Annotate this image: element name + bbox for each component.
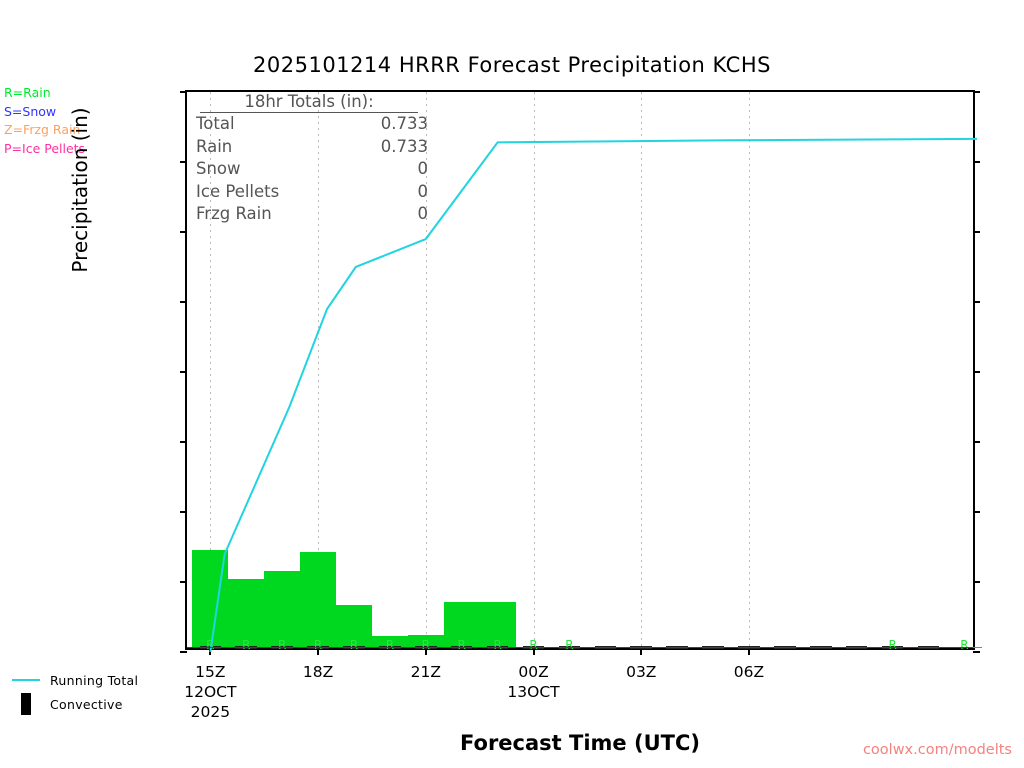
y-tick-left bbox=[180, 441, 187, 443]
legend-item-label: Running Total bbox=[50, 673, 138, 688]
x-tick-label-line: 15Z bbox=[155, 662, 265, 682]
y-tick-left bbox=[180, 511, 187, 513]
totals-row-value: 0.733 bbox=[381, 136, 428, 159]
totals-row-label: Snow bbox=[196, 158, 241, 181]
totals-row-label: Frzg Rain bbox=[196, 203, 272, 226]
x-tick-label-line: 03Z bbox=[586, 662, 696, 682]
page-title: 2025101214 HRRR Forecast Precipitation K… bbox=[0, 53, 1024, 77]
x-tick-label-line: 12OCT bbox=[155, 682, 265, 702]
series-legend: Running TotalConvective bbox=[12, 668, 138, 716]
watermark-credit: coolwx.com/modelts bbox=[0, 742, 1012, 758]
y-tick-left bbox=[180, 651, 187, 653]
totals-box-rows: Total0.733Rain0.733Snow0Ice Pellets0Frzg… bbox=[196, 113, 441, 226]
totals-row-value: 0 bbox=[418, 181, 429, 204]
totals-row-label: Ice Pellets bbox=[196, 181, 279, 204]
y-tick-left bbox=[180, 161, 187, 163]
totals-row-value: 0 bbox=[418, 203, 429, 226]
y-tick-left bbox=[180, 231, 187, 233]
y-tick-left bbox=[180, 301, 187, 303]
legend-item-running-total[interactable]: Running Total bbox=[12, 668, 138, 692]
zero-baseline bbox=[187, 647, 973, 648]
totals-row: Snow0 bbox=[196, 158, 428, 181]
x-tick-label: 00Z13OCT bbox=[479, 662, 589, 702]
totals-row: Rain0.733 bbox=[196, 136, 428, 159]
y-tick-left bbox=[180, 581, 187, 583]
totals-row: Frzg Rain0 bbox=[196, 203, 428, 226]
x-tick-label: 03Z bbox=[586, 662, 696, 682]
totals-row-value: 0 bbox=[418, 158, 429, 181]
x-tick-label-line: 06Z bbox=[694, 662, 804, 682]
x-tick-label: 21Z bbox=[371, 662, 481, 682]
totals-box-header: 18hr Totals (in): bbox=[200, 92, 418, 113]
x-tick-label: 18Z bbox=[263, 662, 373, 682]
x-tick-label-line: 2025 bbox=[155, 702, 265, 722]
x-tick-label: 15Z12OCT2025 bbox=[155, 662, 265, 722]
x-tick-label-line: 21Z bbox=[371, 662, 481, 682]
x-tick-label-line: 13OCT bbox=[479, 682, 589, 702]
totals-row: Ice Pellets0 bbox=[196, 181, 428, 204]
x-tick-label: 06Z bbox=[694, 662, 804, 682]
x-tick-label-line: 18Z bbox=[263, 662, 373, 682]
legend-item-convective[interactable]: Convective bbox=[12, 692, 138, 716]
y-tick-left bbox=[180, 371, 187, 373]
y-tick-left bbox=[180, 91, 187, 93]
legend-item-label: Convective bbox=[50, 697, 123, 712]
totals-row: Total0.733 bbox=[196, 113, 428, 136]
legend-line-swatch bbox=[12, 679, 40, 681]
totals-box: 18hr Totals (in): Total0.733Rain0.733Sno… bbox=[196, 92, 441, 226]
totals-row-label: Total bbox=[196, 113, 235, 136]
legend-bar-swatch bbox=[21, 693, 31, 715]
totals-row-label: Rain bbox=[196, 136, 232, 159]
x-tick-label-line: 00Z bbox=[479, 662, 589, 682]
y-axis-title: Precipitation (in) bbox=[68, 40, 92, 340]
totals-row-value: 0.733 bbox=[381, 113, 428, 136]
